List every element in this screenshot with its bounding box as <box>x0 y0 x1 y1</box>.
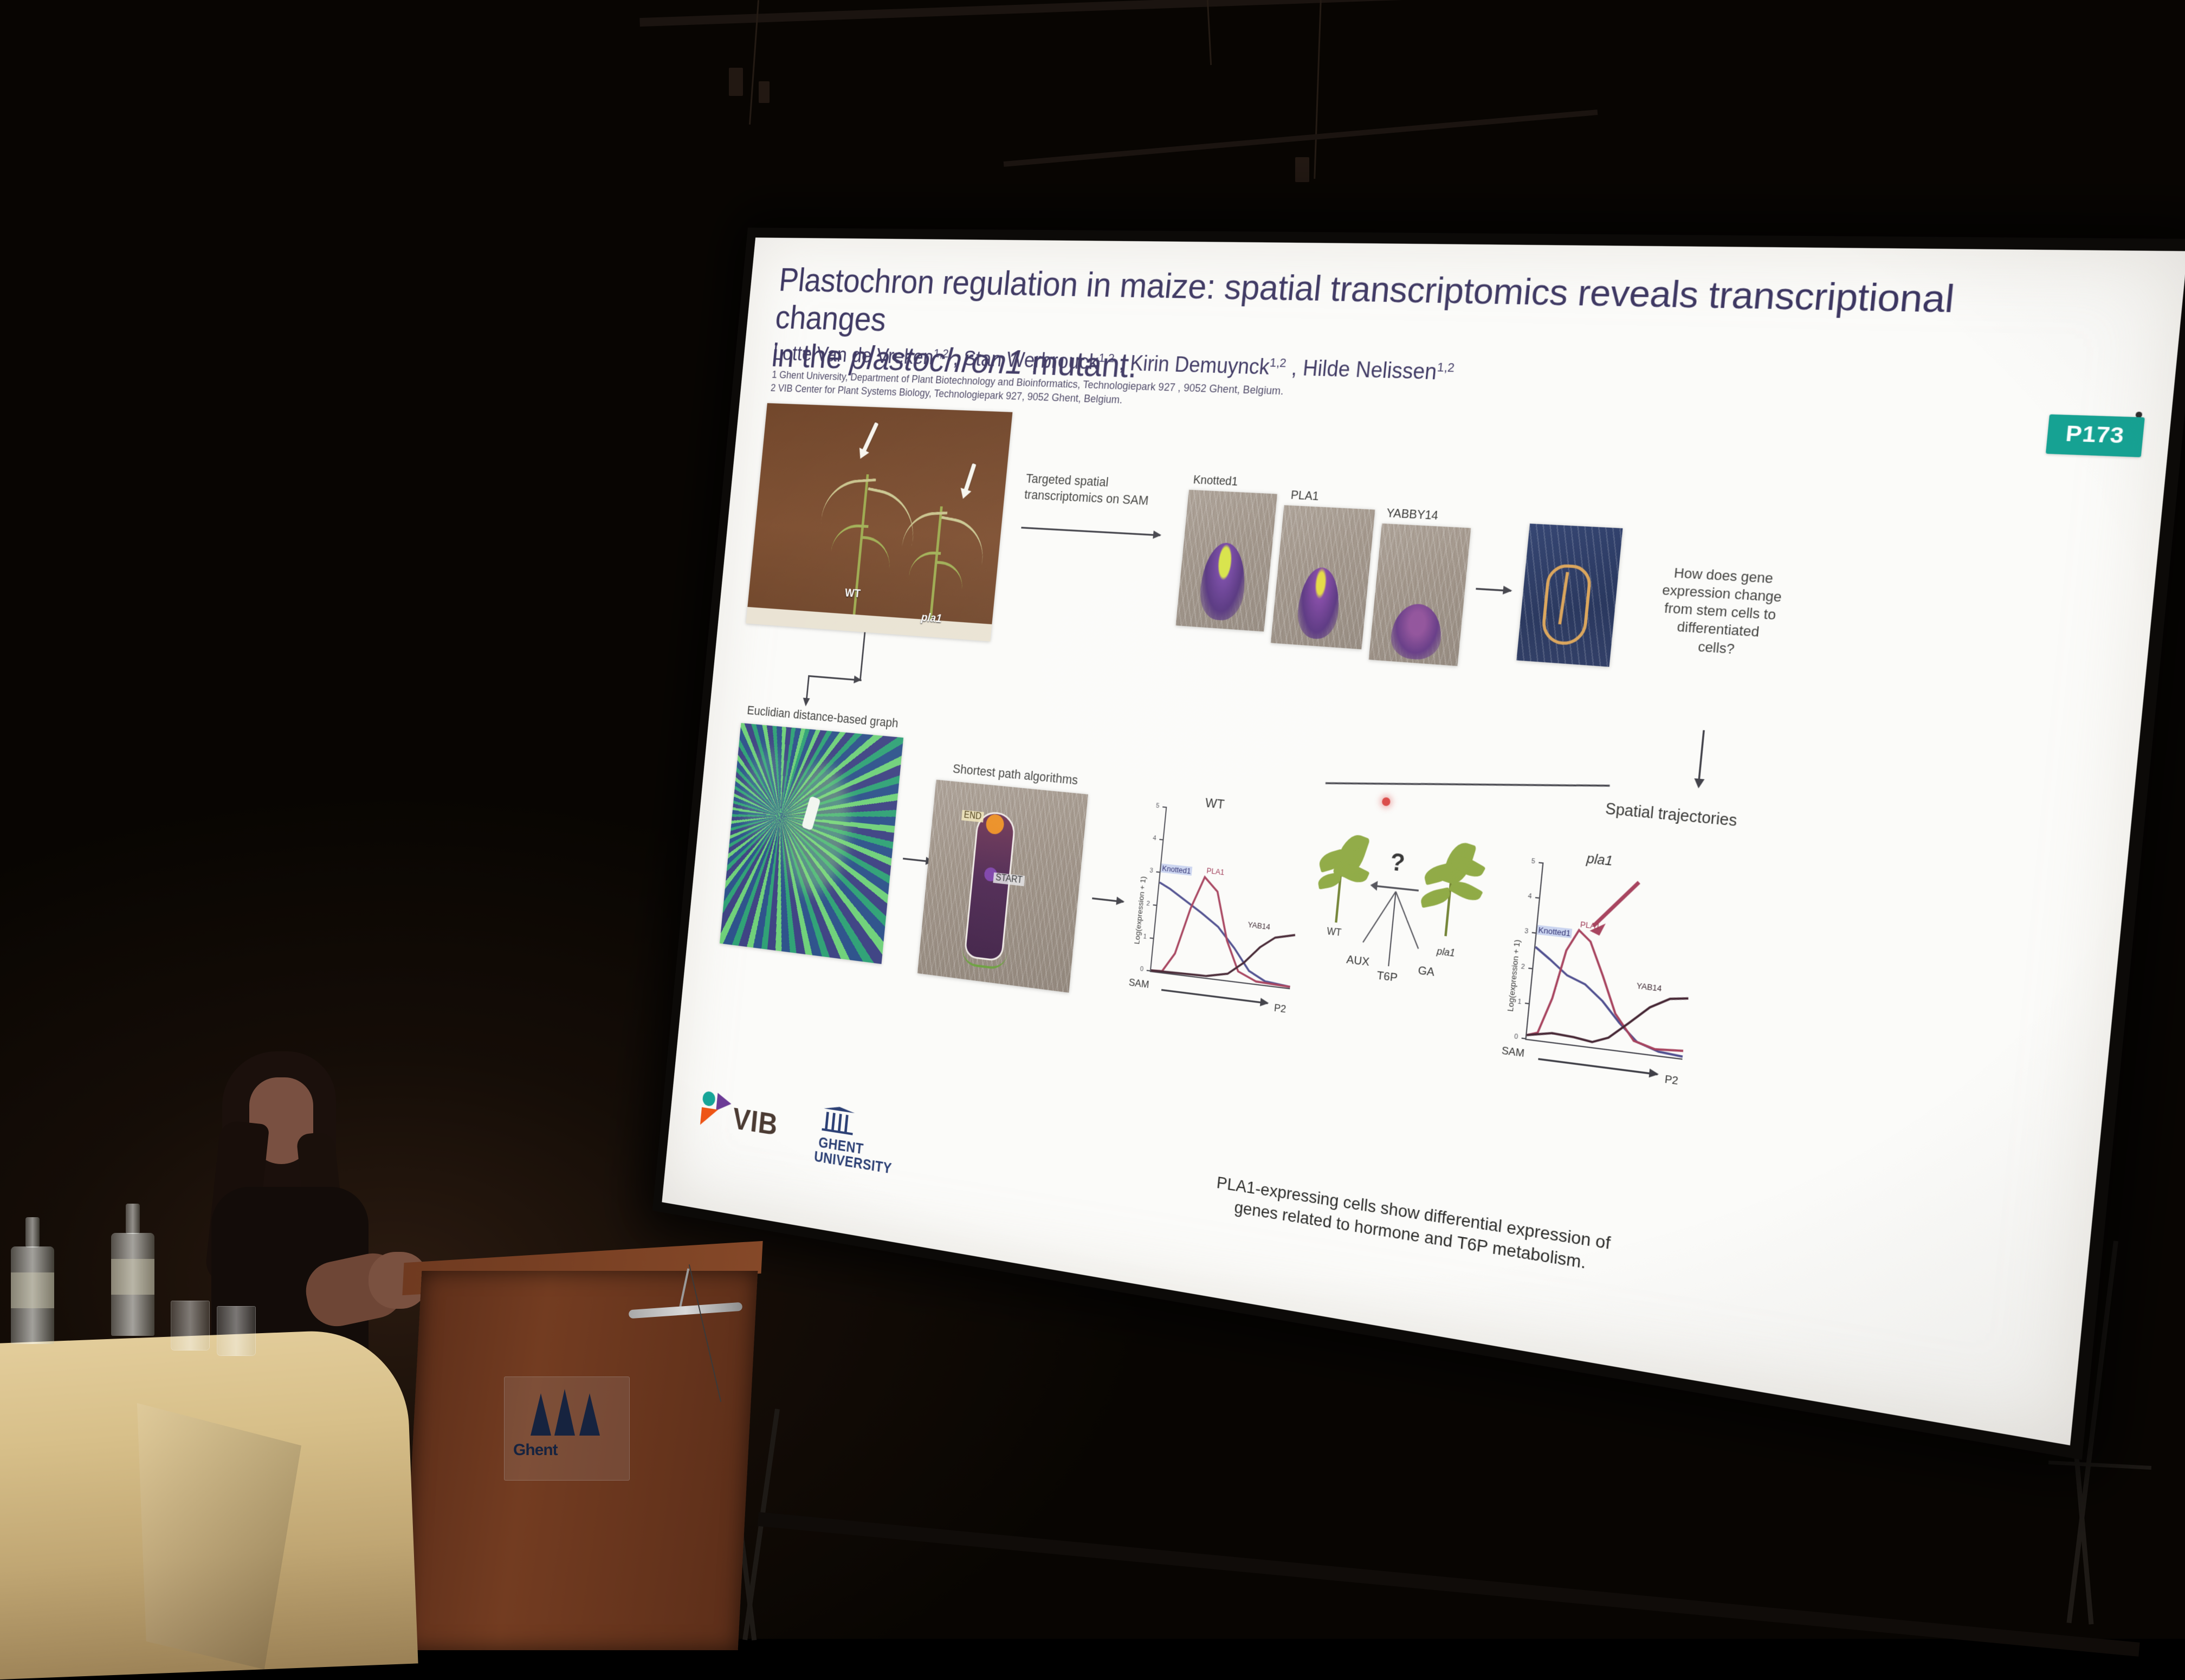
ghent-towers-icon <box>527 1392 603 1436</box>
flow-arrow-to-genes <box>1021 527 1160 536</box>
tower <box>554 1389 575 1436</box>
vib-orange-triangle <box>700 1107 718 1127</box>
flow-line-down <box>859 632 865 680</box>
spatial-trajectories-arrowhead <box>1693 778 1705 789</box>
temple-column <box>844 1115 849 1132</box>
water-bottle <box>111 1233 154 1336</box>
temple-column <box>825 1112 829 1129</box>
stage-light <box>729 68 743 96</box>
author-name: Lotte Van de Vreken <box>772 341 935 369</box>
podium-plaque-text: Ghent <box>513 1441 558 1459</box>
tablecloth-fold <box>137 1397 310 1673</box>
slide-title-line1: Plastochron regulation in maize: spatial… <box>774 261 1956 339</box>
path-end-label: END <box>961 810 984 823</box>
gene-label-yabby14: YABBY14 <box>1386 507 1439 524</box>
drinking-glass <box>217 1306 256 1356</box>
shortest-path-image: END START <box>917 780 1088 993</box>
hormone-model-diagram: WT ? AUX T6P GA pla1 <box>1297 824 1494 1046</box>
sprout-wt-label: WT <box>1327 927 1342 939</box>
expression-domain <box>1389 603 1444 661</box>
caption-targeted-transcriptomics: Targeted spatial transcriptomics on SAM <box>1024 470 1188 511</box>
author-affil-sup: 1,2 <box>1437 360 1456 375</box>
pla1-pot-label: pla1 <box>921 611 942 626</box>
sprout-pla1-label: pla1 <box>1436 946 1455 959</box>
ceiling-cable <box>1314 0 1322 179</box>
chart-wt-xend-label: P2 <box>1273 1002 1287 1016</box>
micrograph-yabby14 <box>1369 524 1471 666</box>
mesh-highlight <box>779 761 855 897</box>
curve-yab14 <box>1151 919 1295 987</box>
euclidian-distance-graph-image <box>720 723 903 964</box>
wt-pointer-arrow <box>861 422 878 454</box>
chart-wt-expression: WT Log(expression + 1) 5 4 3 2 1 0 Knott… <box>1124 789 1313 1023</box>
conclusion-text: PLA1-expressing cells show differential … <box>1147 1161 1688 1290</box>
flow-arrow-down-to-euclid <box>806 675 810 700</box>
author-affil-sup: 1,2 <box>933 347 949 360</box>
temple-column <box>831 1113 836 1130</box>
hormone-horizontal-arrow <box>1375 885 1419 891</box>
bottle-label <box>111 1259 154 1295</box>
projection-screen: Plastochron regulation in maize: spatial… <box>652 228 2185 1460</box>
vib-teal-circle <box>702 1091 715 1107</box>
vib-logo: VIB <box>699 1091 815 1159</box>
micrograph-knotted1 <box>1176 490 1277 632</box>
tower <box>579 1393 600 1436</box>
expression-domain <box>1295 566 1342 640</box>
caption-spatial-trajectories: Spatial trajectories <box>1605 799 1738 831</box>
author-name: Kirin Demuynck <box>1129 351 1270 379</box>
path-track <box>964 810 1017 962</box>
author-affil-sup: 1,2 <box>1269 356 1287 370</box>
author-name: Hilde Nelissen <box>1302 356 1438 384</box>
caption-research-question: How does gene expression change from ste… <box>1632 562 1809 662</box>
poster-number-badge: P173 <box>2045 414 2145 457</box>
pla1-plant <box>890 487 1000 624</box>
author-affil-sup: 1,2 <box>1098 351 1115 365</box>
chart-pla1-expression: pla1 Log(expression + 1) 5 4 3 2 1 0 <box>1496 844 1707 1099</box>
plant-phenotype-photo: WT pla1 <box>746 403 1012 642</box>
branch-line-ga <box>1395 891 1419 949</box>
chart-wt-curves <box>1124 789 1313 1023</box>
ghent-temple-icon <box>822 1104 855 1135</box>
flow-corner-row2 <box>808 675 862 681</box>
bottle-neck <box>25 1217 40 1248</box>
side-table <box>0 1328 418 1680</box>
hormone-label-t6p: T6P <box>1376 969 1398 985</box>
gene-label-pla1: PLA1 <box>1290 489 1320 504</box>
flow-arrow-to-trajectory <box>1476 588 1511 592</box>
podium-plaque: Ghent <box>504 1377 630 1481</box>
presentation-slide: Plastochron regulation in maize: spatial… <box>662 237 2185 1445</box>
hormone-label-aux: AUX <box>1346 953 1370 970</box>
question-mark: ? <box>1389 849 1406 878</box>
author-name: Stan Werbrouck <box>962 346 1100 374</box>
bottle-neck <box>126 1204 140 1234</box>
hormone-arrowhead-left <box>1370 880 1378 890</box>
bottle-label <box>11 1272 54 1308</box>
micrograph-pla1 <box>1271 505 1375 649</box>
stage-light <box>759 81 770 103</box>
vib-wordmark: VIB <box>731 1101 779 1143</box>
path-lower-cluster <box>961 940 1008 971</box>
chart-wt-xstart-label: SAM <box>1128 977 1149 991</box>
chart-pla1-xend-label: P2 <box>1664 1073 1679 1088</box>
laser-pointer-dot <box>1381 797 1391 806</box>
tower <box>531 1393 551 1436</box>
sprout-wt <box>1309 830 1374 927</box>
temple-base <box>822 1128 852 1135</box>
stage-light <box>1295 157 1309 182</box>
temple-column <box>838 1114 842 1131</box>
curve-pla1 <box>1151 873 1300 987</box>
chart-pla1-curves <box>1496 844 1707 1099</box>
projection-screen-area: Plastochron regulation in maize: spatial… <box>748 228 2178 1572</box>
series-label-pla1: PLA1 <box>1206 866 1225 877</box>
vib-purple-triangle <box>716 1093 732 1113</box>
sprout-pla1 <box>1418 838 1491 944</box>
water-bottle <box>11 1246 54 1344</box>
ghent-university-logo: GHENT UNIVERSITY <box>812 1104 909 1186</box>
spatial-trajectories-line <box>1326 782 1610 786</box>
flow-arrow-to-charts <box>1092 897 1123 903</box>
gene-label-knotted1: Knotted1 <box>1193 474 1239 489</box>
ceiling-truss <box>639 0 1669 27</box>
hormone-label-ga: GA <box>1417 964 1435 980</box>
pla1-pointer-arrow <box>963 463 976 493</box>
drinking-glass <box>171 1301 210 1351</box>
spatial-trajectories-down-line <box>1698 730 1705 780</box>
wt-pot-label: WT <box>844 587 861 601</box>
expression-domain <box>1198 542 1249 622</box>
spatial-trajectory-image <box>1516 524 1622 667</box>
vib-logo-mark <box>700 1091 734 1131</box>
ceiling-cable <box>1207 0 1212 65</box>
